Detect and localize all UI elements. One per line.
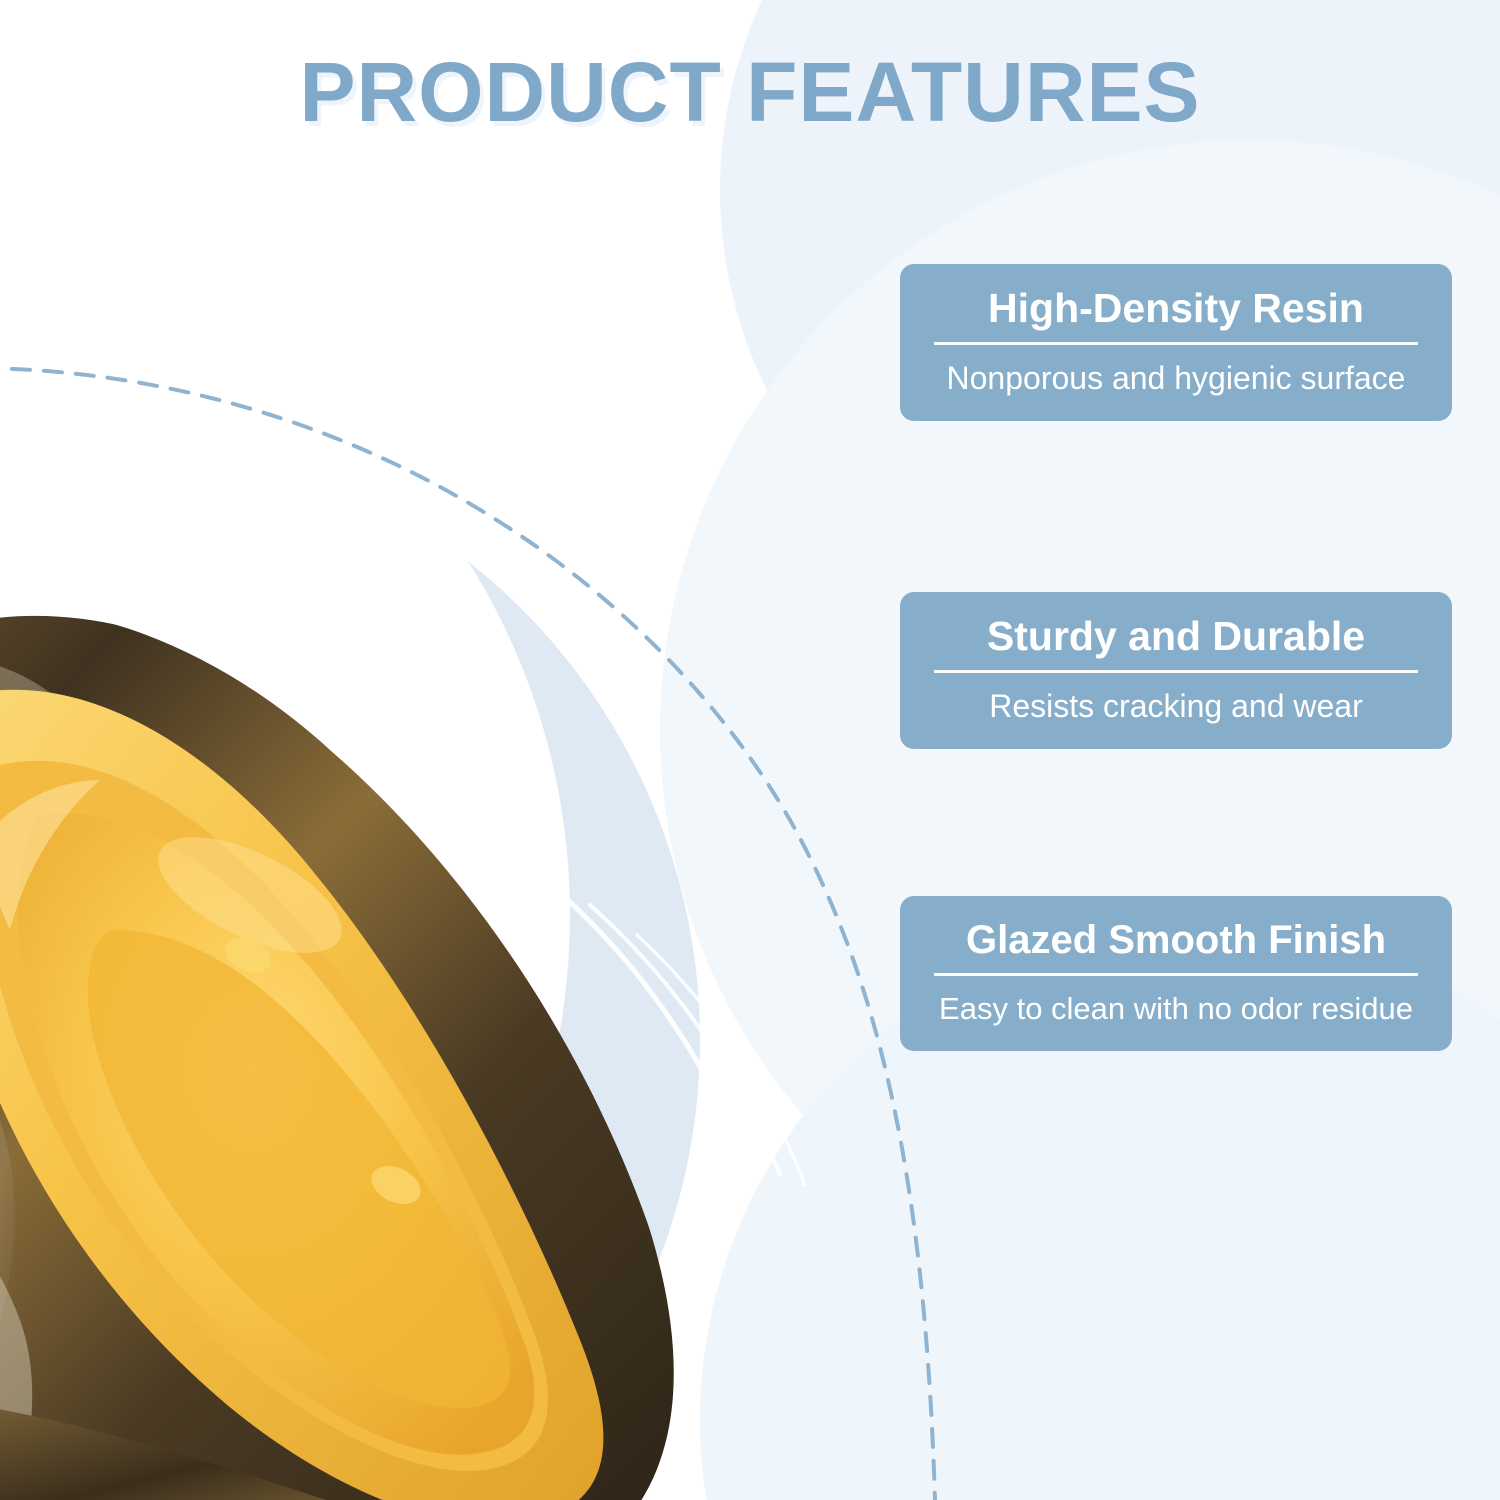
feature-title: Glazed Smooth Finish <box>920 918 1432 963</box>
product-feature-graphic: PRODUCT FEATURES High-Density Resin Nonp… <box>0 0 1500 1500</box>
feature-card-high-density-resin: High-Density Resin Nonporous and hygieni… <box>900 264 1452 421</box>
page-title: PRODUCT FEATURES <box>0 44 1500 141</box>
feature-title: Sturdy and Durable <box>920 614 1432 660</box>
feature-card-glazed-smooth-finish: Glazed Smooth Finish Easy to clean with … <box>900 896 1452 1051</box>
feature-title: High-Density Resin <box>920 286 1432 332</box>
feature-description: Resists cracking and wear <box>920 687 1432 725</box>
feature-divider <box>934 342 1418 345</box>
feature-description: Easy to clean with no odor residue <box>920 990 1432 1027</box>
feature-divider <box>934 670 1418 673</box>
feature-divider <box>934 973 1418 976</box>
feature-description: Nonporous and hygienic surface <box>920 359 1432 397</box>
feature-card-sturdy-and-durable: Sturdy and Durable Resists cracking and … <box>900 592 1452 749</box>
product-image-reptile-rock-bowl <box>0 600 800 1500</box>
